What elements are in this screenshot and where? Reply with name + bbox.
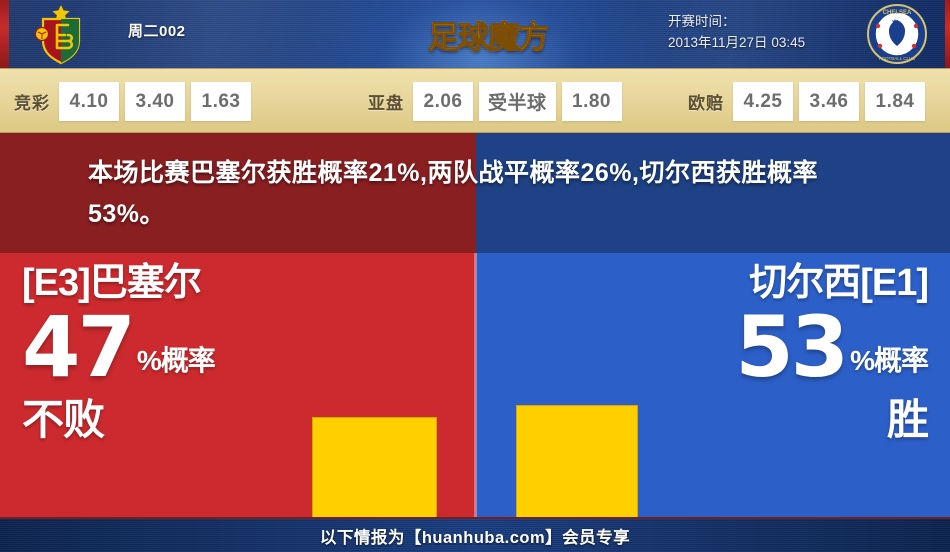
header-left-red-stripe [0,0,9,68]
header-right-red-stripe [945,0,950,68]
site-logo[interactable]: 足球魔方 [418,11,558,57]
odds-cell-jingcai-away[interactable]: 1.63 [191,82,251,121]
odds-cell-jingcai-draw[interactable]: 3.40 [125,82,185,121]
kickoff-label: 开赛时间： [668,11,888,32]
headline-text: 本场比赛巴塞尔获胜概率21%,两队战平概率26%,切尔西获胜概率53%。 [88,153,888,235]
match-number: 周二002 [128,20,186,41]
away-percent-value: 53 [735,309,846,385]
svg-text:FOOTBALL CLUB: FOOTBALL CLUB [879,56,916,61]
odds-group-oupei: 欧赔 4.25 3.46 1.84 [688,69,931,134]
odds-label-oupei: 欧赔 [688,89,724,114]
away-probability-bar [516,405,638,517]
away-verdict: 胜 [658,397,928,443]
home-percent-value: 47 [22,309,133,385]
headline-band: 本场比赛巴塞尔获胜概率21%,两队战平概率26%,切尔西获胜概率53%。 [0,133,950,253]
home-verdict: 不败 [22,397,292,443]
kickoff-info: 开赛时间： 2013年11月27日 03:45 [668,11,888,53]
panel-divider [474,253,477,517]
odds-cell-yapan-handicap[interactable]: 受半球 [479,82,556,121]
match-header: CHELSEA FOOTBALL CLUB 周二002 足球魔方 开赛时间： 2… [0,0,950,68]
home-team-stats: [E3]巴塞尔 47 %概率 不败 [22,261,292,443]
away-percent-unit: %概率 [846,347,928,385]
odds-label-jingcai: 竞彩 [14,89,50,114]
odds-cell-oupei-draw[interactable]: 3.46 [799,82,859,121]
odds-group-yapan: 亚盘 2.06 受半球 1.80 [368,69,628,134]
site-logo-text: 足球魔方 [428,12,548,57]
football-prediction-graphic: CHELSEA FOOTBALL CLUB 周二002 足球魔方 开赛时间： 2… [0,0,950,552]
basel-crest-icon [27,3,95,65]
odds-label-yapan: 亚盘 [368,89,404,114]
header-diagonal-left [80,0,380,68]
kickoff-time: 2013年11月27日 03:45 [668,32,888,53]
footer-bar: 以下情报为【huanhuba.com】会员专享 [0,517,950,552]
home-percent-row: 47 %概率 [22,309,292,385]
home-probability-bar [312,417,437,517]
away-team-stats: 切尔西[E1] 53 %概率 胜 [658,261,928,443]
odds-bar: 竞彩 4.10 3.40 1.63 亚盘 2.06 受半球 1.80 欧赔 4.… [0,68,950,133]
footer-text: 以下情报为【huanhuba.com】会员专享 [320,524,630,548]
odds-group-jingcai: 竞彩 4.10 3.40 1.63 [14,69,257,134]
probability-chart: [E3]巴塞尔 47 %概率 不败 切尔西[E1] 53 %概率 胜 [0,253,950,517]
home-percent-unit: %概率 [133,347,215,385]
odds-cell-yapan-away[interactable]: 1.80 [562,82,622,121]
odds-cell-oupei-away[interactable]: 1.84 [865,82,925,121]
odds-cell-yapan-home[interactable]: 2.06 [413,82,473,121]
odds-cell-jingcai-home[interactable]: 4.10 [59,82,119,121]
odds-cell-oupei-home[interactable]: 4.25 [733,82,793,121]
away-percent-row: 53 %概率 [658,309,928,385]
